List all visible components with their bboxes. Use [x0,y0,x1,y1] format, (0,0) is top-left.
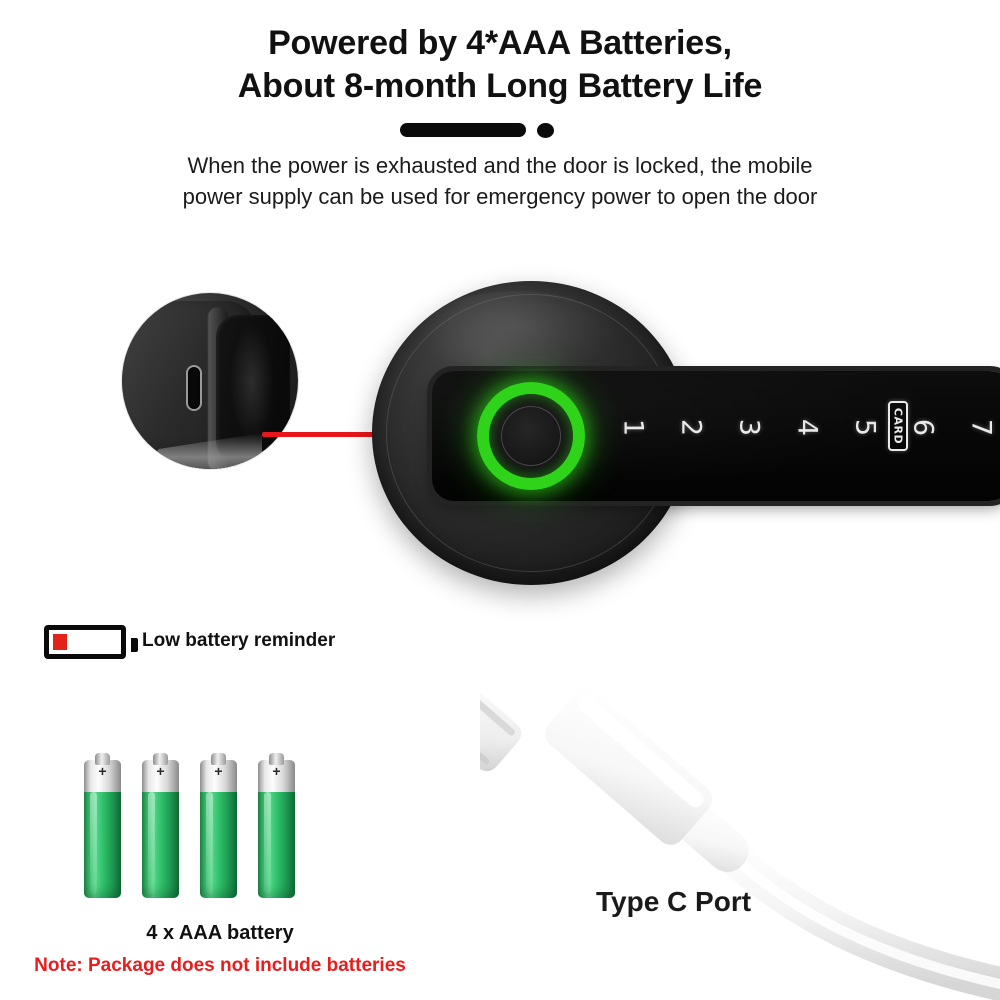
product-feature-page: Powered by 4*AAA Batteries, About 8-mont… [0,0,1000,1000]
aaa-battery-3: + [200,752,237,898]
keypad-key-5[interactable]: 5 [850,415,881,441]
cable-svg [480,620,1000,1000]
divider-dot [537,123,554,138]
battery-caption: 4 x AAA battery [0,922,440,945]
subtitle-line-2: power supply can be used for emergency p… [0,181,1000,212]
battery-sheen [90,792,97,894]
aaa-battery-4: + [258,752,295,898]
keypad-key-2[interactable]: 2 [676,415,707,441]
page-title: Powered by 4*AAA Batteries, About 8-mont… [0,22,1000,108]
title-line-2: About 8-month Long Battery Life [0,65,1000,108]
low-battery-icon [44,625,126,659]
battery-terminal-nub [131,638,138,652]
type-c-port-label: Type C Port [596,886,751,918]
keypad-key-1[interactable]: 1 [618,415,649,441]
aaa-battery-1: + [84,752,121,898]
battery-plus-mark: + [271,766,282,777]
type-c-cable-illustration [480,620,1000,1000]
low-battery-label: Low battery reminder [142,630,335,652]
battery-sheen [206,792,213,894]
aaa-battery-2: + [142,752,179,898]
knob-highlight [416,291,616,377]
inset-highlight [230,323,274,443]
page-subtitle: When the power is exhausted and the door… [0,150,1000,212]
cable-cord [715,842,1000,984]
aaa-battery-group: + + + + [84,752,304,902]
usb-c-port-zoom-inset [122,293,298,469]
card-reader-badge[interactable]: CARD [888,401,908,451]
keypad-key-7[interactable]: 7 [966,415,997,441]
keypad-key-3[interactable]: 3 [734,415,765,441]
fingerprint-ring-icon[interactable] [477,382,585,490]
keypad-key-4[interactable]: 4 [792,415,823,441]
card-badge-label: CARD [892,408,905,444]
product-illustration: 1 2 3 4 5 CARD 6 7 8 [0,255,1000,600]
battery-plus-mark: + [155,766,166,777]
fingerprint-sensor[interactable] [501,406,561,466]
usb-c-port-icon [186,365,202,411]
battery-plus-mark: + [97,766,108,777]
battery-fill-bar [53,634,67,650]
usb-c-plug-housing [539,682,718,850]
keypad-key-6[interactable]: 6 [908,415,939,441]
battery-note: Note: Package does not include batteries [0,955,440,977]
divider-bar [400,123,526,137]
usb-c-plug-tip [480,684,526,776]
title-divider [0,120,1000,140]
keypad-panel: 1 2 3 4 5 CARD 6 7 8 [432,371,1000,501]
title-line-1: Powered by 4*AAA Batteries, [0,22,1000,65]
battery-sheen [148,792,155,894]
battery-sheen [264,792,271,894]
subtitle-line-1: When the power is exhausted and the door… [0,150,1000,181]
battery-plus-mark: + [213,766,224,777]
